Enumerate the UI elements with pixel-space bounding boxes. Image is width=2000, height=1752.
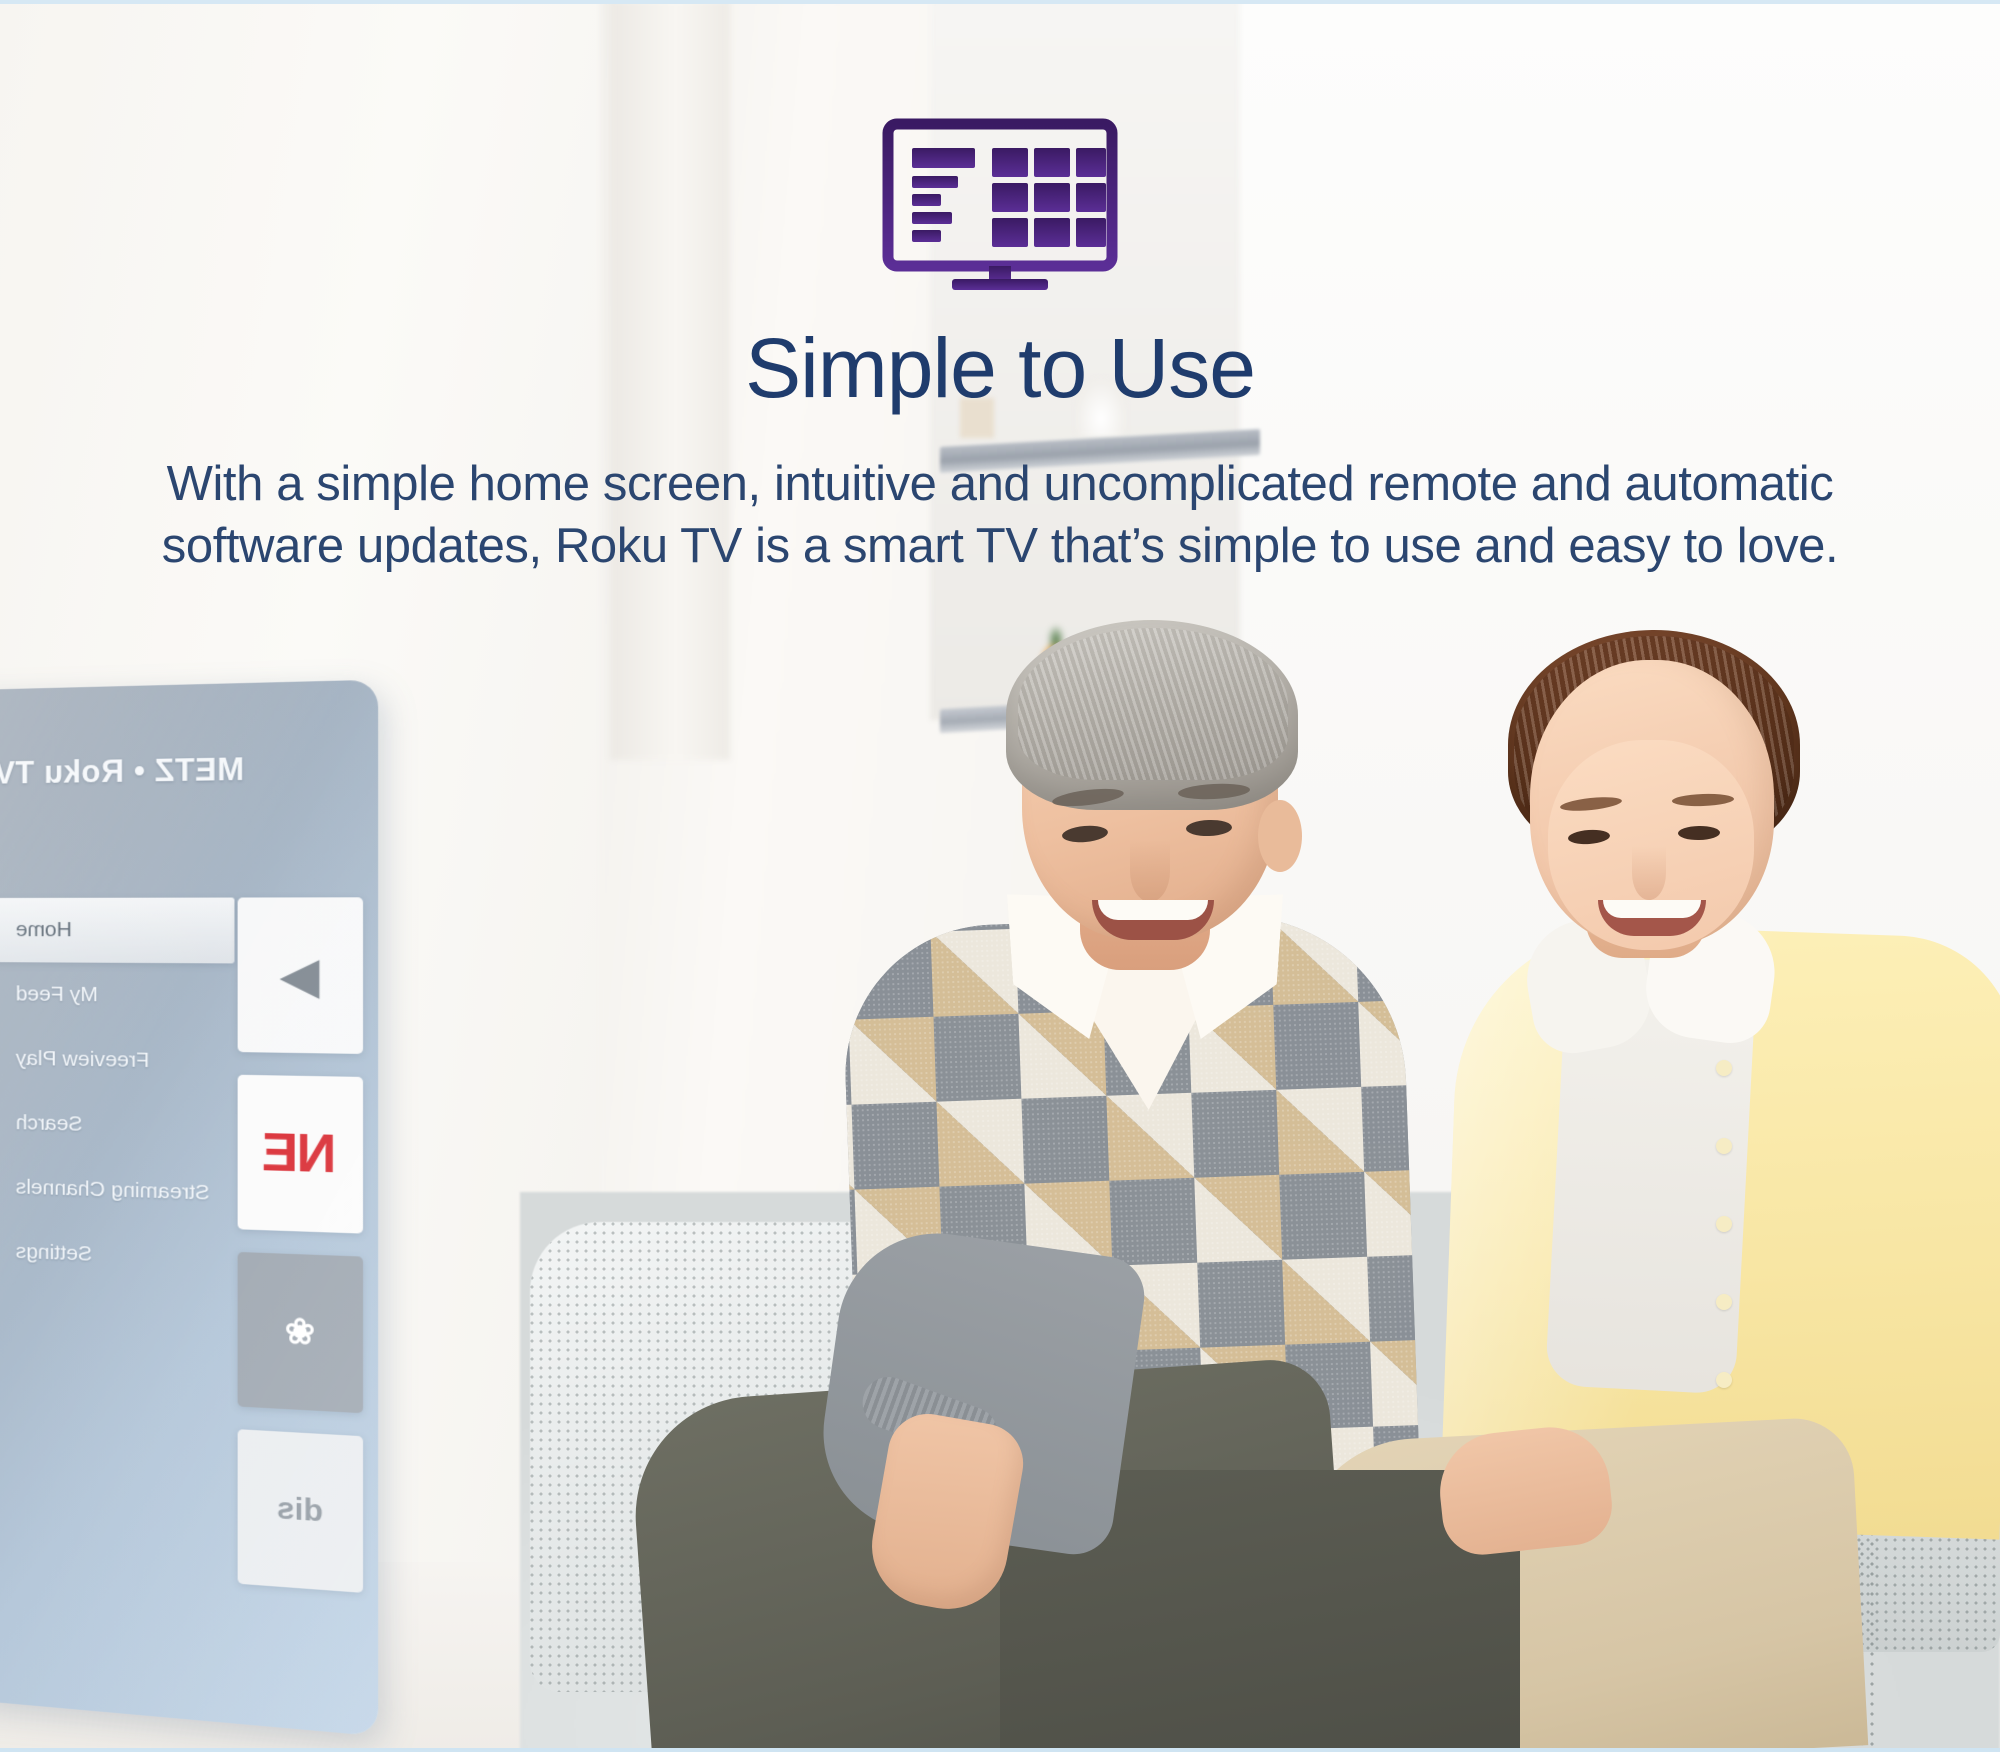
menu-item-label: Settings: [16, 1240, 92, 1266]
menu-item-label: Streaming Channels: [16, 1175, 210, 1204]
top-accent-line: [0, 0, 2000, 4]
menu-item-label: Home: [16, 918, 72, 941]
tv-brand-logo: METZ • Roku TV: [0, 751, 244, 792]
menu-item-freeview-play[interactable]: Freeview Play: [0, 1026, 234, 1095]
roku-tv-screen[interactable]: METZ • Roku TV Home My Feed Freeview Pla…: [0, 680, 378, 1737]
roku-tv-screen-content: METZ • Roku TV Home My Feed Freeview Pla…: [0, 680, 378, 1737]
menu-item-home[interactable]: Home: [0, 898, 234, 964]
roku-home-menu[interactable]: Home My Feed Freeview Play Search Stream…: [0, 898, 234, 1293]
woman-cardigan-buttons: [1716, 1060, 1732, 1400]
channel-tile-generic[interactable]: ❀: [238, 1252, 363, 1413]
man-teeth: [1098, 900, 1208, 920]
channel-tile-disney[interactable]: dis: [238, 1429, 363, 1593]
menu-item-streaming-channels[interactable]: Streaming Channels: [0, 1154, 234, 1227]
menu-item-label: My Feed: [16, 982, 98, 1006]
tv-home-screen-icon: [882, 118, 1118, 296]
hero-description: With a simple home screen, intuitive and…: [85, 454, 1915, 577]
menu-item-my-feed[interactable]: My Feed: [0, 962, 234, 1029]
channel-tile-netflix[interactable]: NE: [238, 1075, 363, 1234]
man-nose: [1130, 840, 1170, 902]
hero-section: Simple to Use With a simple home screen,…: [0, 0, 2000, 578]
menu-item-search[interactable]: Search: [0, 1090, 234, 1161]
menu-item-settings[interactable]: Settings: [0, 1218, 234, 1293]
page-title: Simple to Use: [0, 324, 2000, 412]
man-ear: [1258, 800, 1302, 872]
menu-item-label: Freeview Play: [16, 1047, 150, 1072]
promo-page: METZ • Roku TV Home My Feed Freeview Pla…: [0, 0, 2000, 1752]
woman-teeth: [1603, 900, 1701, 918]
channel-tile-player[interactable]: ▶: [238, 897, 363, 1054]
menu-item-label: Search: [16, 1111, 83, 1136]
man-hair: [1006, 620, 1298, 810]
channel-tile-grid[interactable]: ▶ NE ❀ dis: [236, 897, 364, 1616]
bottom-accent-line: [0, 1748, 2000, 1752]
woman-nose: [1632, 846, 1666, 900]
